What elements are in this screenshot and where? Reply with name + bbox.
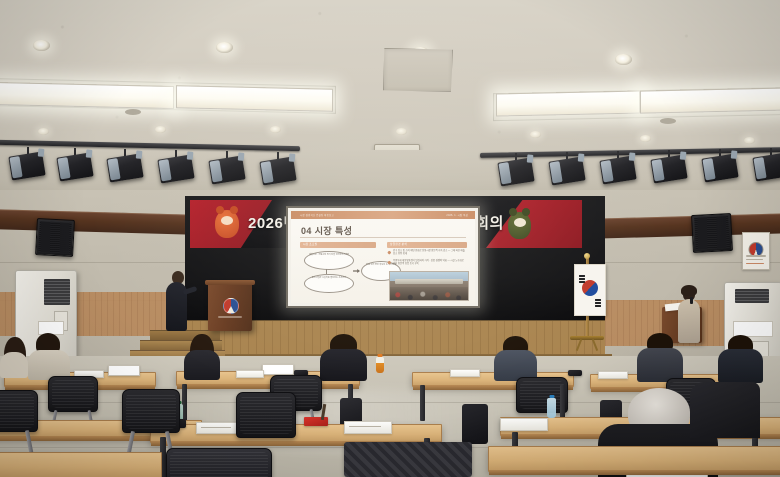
stage-light-lens	[702, 158, 715, 180]
chair-mesh	[52, 380, 94, 408]
juice-bottle	[376, 357, 384, 373]
paper-text-line	[201, 427, 231, 428]
stage-light-lens	[753, 157, 766, 179]
wall-poster	[742, 232, 770, 270]
slide-title-rule	[300, 237, 466, 238]
table-row	[150, 424, 442, 443]
chair-mesh	[240, 396, 292, 434]
slide-section-heading-right: 상권환경 분석	[387, 242, 467, 248]
ceiling-vent	[660, 118, 676, 124]
paper-text-line	[349, 426, 381, 427]
speaker-grill	[694, 216, 730, 250]
chair	[236, 392, 296, 438]
ac-vent	[44, 279, 70, 305]
ceiling-downlight	[270, 126, 281, 133]
podium-top-surface	[205, 280, 255, 285]
bottle-cap	[378, 354, 383, 357]
flag-trigram-icon	[579, 275, 585, 277]
chair-mesh	[0, 394, 34, 428]
attendee-body	[184, 350, 220, 380]
slide-photo-crowd	[390, 287, 468, 300]
ceiling-downlight	[640, 135, 651, 142]
ceiling-light-panel-right-2	[640, 87, 780, 113]
table-edge	[489, 470, 780, 475]
paper-handout	[236, 370, 264, 378]
mascot-right-face	[514, 218, 526, 227]
stage-light-lens	[158, 159, 171, 181]
slide-eyebrow-left: 시장 경영혁신 컨설팅 최종보고	[300, 213, 334, 217]
stage-light-lens	[498, 162, 511, 184]
name-card	[262, 364, 294, 375]
stage-light-lens	[600, 160, 613, 182]
slide-diagram-node-label: 통신사업자 시설확충 별상권도 소개공간	[305, 275, 353, 280]
flag-trigram-icon	[595, 305, 601, 307]
korean-flag	[574, 264, 606, 316]
water-bottle	[547, 398, 556, 418]
ceiling-downlight	[396, 128, 407, 135]
name-card	[108, 365, 140, 376]
chair-seat	[344, 442, 472, 477]
slide-diagram-node-label: 대형시장 · 전통시장 전기 상업 공간량증가경영	[305, 252, 353, 257]
flag-stand-base	[570, 336, 604, 340]
table-leg	[420, 385, 425, 421]
podium	[208, 283, 252, 331]
slide-section-heading-left-label: 시장 프로필	[300, 242, 376, 248]
chair-mesh	[170, 452, 268, 477]
stage-light-yoke	[578, 153, 585, 161]
ceiling-downlight	[155, 126, 166, 133]
slide-diagram-node: 통신사업자 시설확충 별상권도 소개공간	[304, 274, 354, 293]
mascot-left-ear	[216, 206, 224, 214]
slide-bullet-marker-icon	[387, 250, 391, 254]
chair-mesh	[126, 393, 176, 429]
poster-text-line	[746, 263, 764, 265]
ceiling-downlight	[38, 128, 49, 135]
presentation-slide: 시장 경영혁신 컨설팅 최종보고 2026. 1. 시장 특성 04 시장 특성…	[291, 211, 475, 303]
stage-light-yoke	[187, 151, 194, 159]
conference-hall-photo: 2026년 설팅 회의 시장 경영혁신 컨설팅 최종보고 2026. 1. 시장…	[0, 0, 780, 477]
mascot-left-ear-2	[230, 206, 238, 214]
ceiling-light-panel-left	[0, 82, 174, 109]
slide-section-heading-left: 시장 프로필	[300, 242, 376, 248]
ceiling-downlight	[530, 131, 541, 138]
attendee-body	[718, 349, 763, 383]
chair	[122, 389, 180, 433]
bag	[462, 404, 488, 444]
slide-title: 04 시장 특성	[301, 224, 352, 237]
podium-nameplate	[218, 316, 242, 318]
lectern-speaker-hair	[681, 285, 697, 296]
mascot-right-ear-2	[522, 208, 530, 216]
attendee-body	[637, 348, 683, 382]
ac-vent	[735, 289, 769, 303]
flag-finial	[584, 253, 590, 259]
ceiling-light-panel-right	[496, 90, 640, 116]
stage-light-yoke	[136, 150, 143, 158]
podium-emblem-icon	[223, 298, 239, 314]
table-row	[0, 452, 162, 477]
slide-eyebrow-right: 2026. 1. 시장 특성	[446, 213, 468, 217]
slide-bullet-text: 인구 감소 및 소비 패턴 변화로 전통시장 방문객 지속 감소 — 그에 따른…	[393, 250, 466, 256]
chair	[166, 448, 272, 477]
mobile-phone	[568, 370, 582, 376]
chair	[0, 390, 38, 432]
chair-mesh	[520, 381, 564, 409]
stage-light-yoke	[38, 148, 45, 156]
flag-trigram-icon	[579, 281, 585, 283]
slide-diagram-node: 대형시장 · 전통시장 전기 상업 공간량증가경영	[304, 251, 354, 270]
flag-trigram-icon	[579, 278, 585, 280]
bottle-cap	[549, 395, 554, 398]
wall-speaker-right	[691, 213, 733, 253]
paper-handout	[450, 369, 480, 377]
table-leg	[560, 385, 565, 421]
poster-text-line	[746, 255, 766, 257]
slide-bullet-text: 주변부에 대형유통점이 밀집하여 가격 · 상품 경쟁력 약화 — 시설 노후화…	[393, 260, 466, 266]
projection-screen: 시장 경영혁신 컨설팅 최종보고 2026. 1. 시장 특성 04 시장 특성…	[286, 206, 480, 308]
lectern-speaker-body	[678, 299, 700, 343]
stage-light-yoke	[680, 151, 687, 159]
ceiling-vent	[125, 109, 141, 115]
stage-light-yoke	[731, 150, 738, 158]
table-row	[488, 446, 780, 472]
slide-diagram-arrow-right-icon	[353, 269, 360, 273]
attendee-body	[0, 352, 28, 378]
stage-light-lens	[107, 158, 120, 180]
red-folder	[304, 417, 328, 426]
lectern-speaker-mic-icon	[690, 297, 693, 304]
speaker-grill	[38, 221, 72, 254]
mascot-left-face	[221, 216, 233, 225]
ceiling-light-panel-left-2	[176, 85, 333, 112]
flag-trigram-icon	[595, 302, 601, 304]
slide-section-heading-right-label: 상권환경 분석	[387, 242, 467, 248]
ceiling-downlight	[216, 42, 233, 53]
stage-light-lens	[209, 160, 222, 182]
attendee-body	[690, 382, 760, 438]
stage-light-lens	[57, 157, 70, 179]
paper-handout	[500, 418, 548, 431]
poster-text-line	[746, 259, 763, 261]
table-edge	[177, 384, 359, 389]
stage-light-yoke	[86, 149, 93, 157]
stage-light-yoke	[527, 154, 534, 162]
slide-photo-building	[395, 279, 464, 283]
ceiling-downlight	[744, 137, 755, 144]
paper-handout	[598, 371, 628, 379]
stage-light-lens	[260, 161, 273, 183]
stage-light-yoke	[238, 152, 245, 160]
ceiling-access-hatch	[383, 48, 453, 92]
stage-light-lens	[9, 156, 22, 178]
ceiling-downlight	[33, 40, 50, 51]
stage-light-yoke	[289, 153, 296, 161]
flag-trigram-icon	[595, 299, 601, 301]
stage-light	[752, 152, 780, 181]
ceiling-downlight	[615, 54, 632, 65]
wall-speaker-left	[35, 218, 75, 257]
stage-light-lens	[549, 161, 562, 183]
slide-photo-market	[389, 271, 469, 301]
attendee-body	[320, 349, 367, 381]
mascot-right-ear	[509, 208, 517, 216]
stage-light-yoke	[629, 152, 636, 160]
paper-handout	[344, 421, 392, 434]
stage-light-lens	[651, 159, 664, 181]
chair	[48, 376, 98, 412]
